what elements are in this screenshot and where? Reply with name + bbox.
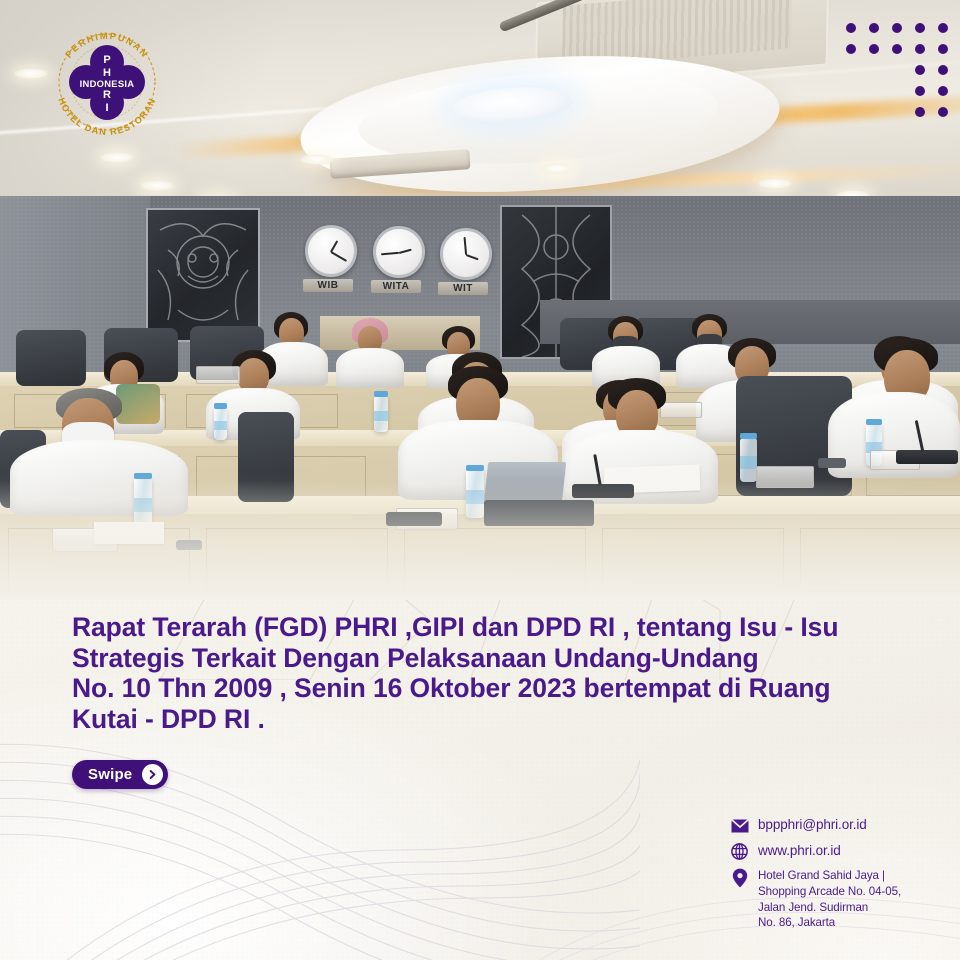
downlight-icon: [100, 152, 134, 163]
photo-bottom-fade: [0, 480, 960, 600]
contact-address-value: Hotel Grand Sahid Jaya | Shopping Arcade…: [758, 868, 901, 931]
globe-icon: [730, 842, 749, 861]
downlight-icon: [300, 154, 334, 165]
water-bottle: [214, 408, 227, 440]
wall-clock-wita: [373, 226, 425, 278]
wall-clock-wib: [305, 225, 357, 277]
chevron-right-icon: [142, 764, 163, 785]
clock-label-wib: WIB: [303, 279, 353, 292]
contact-website-value: www.phri.or.id: [758, 842, 841, 859]
page-title: Rapat Terarah (FGD) PHRI ,GIPI dan DPD R…: [72, 612, 902, 734]
svg-text:INDONESIA: INDONESIA: [80, 78, 135, 89]
contact-email-value: bppphri@phri.or.id: [758, 816, 867, 833]
contact-website-row[interactable]: www.phri.or.id: [730, 842, 945, 861]
decorative-dot-grid: [845, 22, 951, 123]
desk-device: [818, 458, 846, 468]
svg-text:P: P: [103, 54, 110, 66]
snack-box: [196, 366, 240, 384]
svg-text:I: I: [105, 102, 108, 114]
scarf: [116, 384, 160, 424]
downlight-icon: [758, 178, 792, 189]
swipe-button[interactable]: Swipe: [72, 760, 168, 789]
envelope-icon: [730, 816, 749, 835]
downlight-icon: [14, 68, 48, 79]
downlight-icon: [540, 163, 574, 174]
chair: [16, 330, 86, 386]
contact-email-row[interactable]: bppphri@phri.or.id: [730, 816, 945, 835]
map-pin-icon: [730, 868, 749, 887]
water-bottle: [374, 396, 388, 432]
contact-address-row: Hotel Grand Sahid Jaya | Shopping Arcade…: [730, 868, 945, 931]
swipe-button-label: Swipe: [88, 766, 132, 783]
contact-block: bppphri@phri.or.id www.phri.or.id: [730, 816, 945, 938]
svg-text:R: R: [103, 89, 111, 101]
snack-box: [660, 402, 702, 418]
carved-wall-panel-left: [146, 208, 260, 342]
wall-clock-wit: [440, 228, 492, 280]
downlight-icon: [140, 180, 174, 191]
microphone-base: [896, 450, 958, 464]
clock-label-wita: WITA: [371, 280, 421, 293]
poster-canvas: WIB WITA WIT: [0, 0, 960, 960]
clock-label-wit: WIT: [438, 282, 488, 295]
phri-logo: P H R I INDONESIA PERHIMPUNAN HOTEL DAN …: [46, 22, 168, 140]
